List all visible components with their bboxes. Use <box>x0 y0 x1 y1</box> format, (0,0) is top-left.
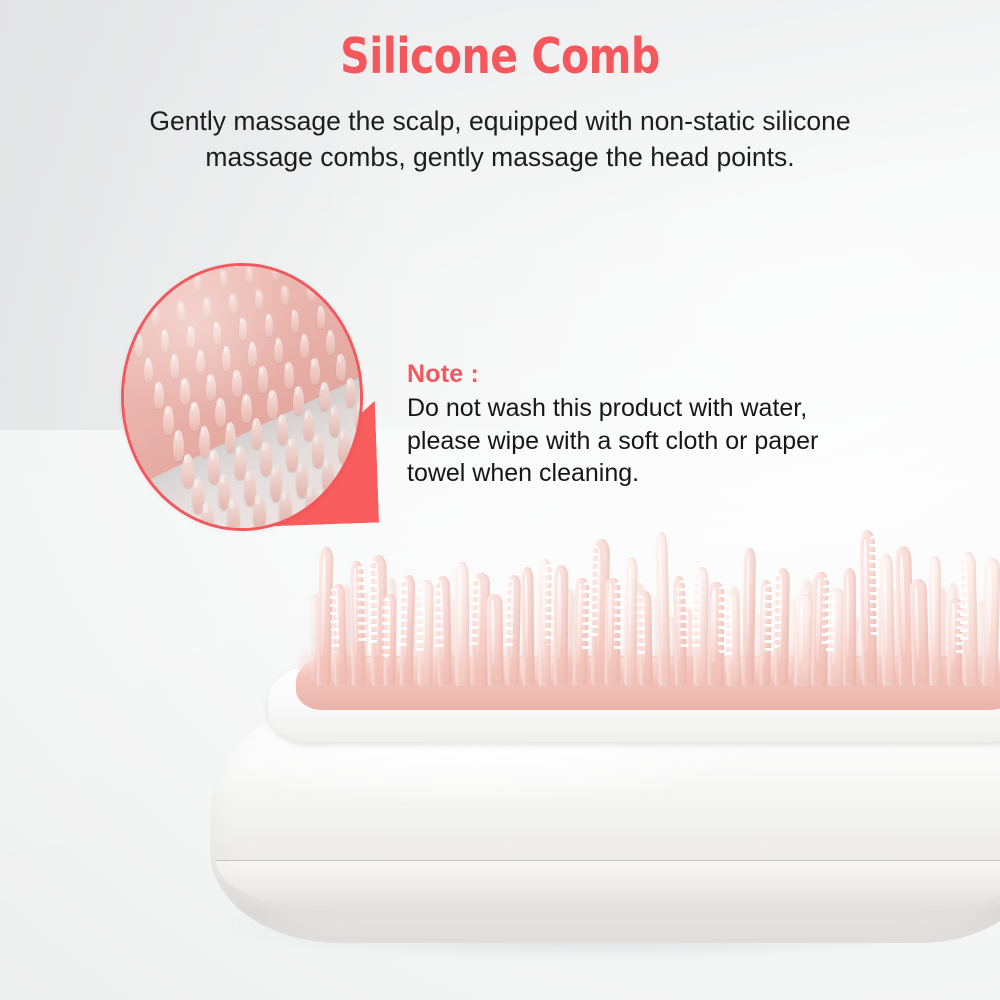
brush-bristle <box>506 575 521 687</box>
macro-bristle <box>203 298 211 318</box>
brush-bristle <box>960 552 978 686</box>
bristle-sheen <box>374 563 379 657</box>
macro-bristle <box>284 362 294 389</box>
brush-bristle <box>521 567 534 686</box>
macro-bristle <box>187 326 196 349</box>
brush-bristle <box>909 579 929 687</box>
bristle-ribbed-edge <box>679 581 689 651</box>
bristle-sheen <box>490 599 495 665</box>
bristle-sheen <box>313 600 316 662</box>
brush-bristle <box>624 557 637 686</box>
bristle-sheen <box>711 588 716 663</box>
bristle-ribbed-edge <box>545 564 554 645</box>
bristle-sheen <box>627 565 631 658</box>
bristle-sheen <box>510 581 515 661</box>
brush-bristle <box>655 532 670 686</box>
macro-bristle <box>310 358 320 385</box>
bristle-sheen <box>641 597 645 665</box>
macro-bristle <box>336 354 346 381</box>
macro-bristle <box>255 290 263 310</box>
macro-bristle <box>272 266 280 280</box>
brush-bristle <box>487 594 505 686</box>
bristle-sheen <box>913 585 919 662</box>
brush-bristle <box>553 565 568 686</box>
bristle-sheen <box>697 574 701 660</box>
brush-bristle <box>982 558 1000 686</box>
brush-bristle <box>384 594 397 686</box>
macro-bristle <box>225 422 236 453</box>
macro-bristle <box>251 418 262 449</box>
macro-bristle <box>168 278 176 296</box>
brush-bristle <box>604 578 619 686</box>
macro-bristle <box>307 282 315 302</box>
bristle-sheen <box>789 605 792 662</box>
macro-bristle <box>189 402 200 431</box>
macro-bristle <box>277 414 288 445</box>
macro-bristle <box>206 374 216 401</box>
page-title: Silicone Comb <box>35 31 965 83</box>
macro-bristle <box>241 394 252 423</box>
subtitle-text: Gently massage the scalp, equipped with … <box>95 103 905 175</box>
bristle-ribbed-edge <box>868 536 877 636</box>
macro-bristle <box>208 450 220 484</box>
bristle-sheen <box>931 564 934 658</box>
brush-bristle <box>693 567 708 686</box>
macro-bristle <box>199 426 210 457</box>
note-block: Note : Do not wash this product with wat… <box>407 358 907 490</box>
bristle-sheen <box>608 584 612 662</box>
macro-bristle <box>286 438 298 472</box>
macro-bristle <box>173 430 184 461</box>
bristle-sheen <box>320 555 326 655</box>
bristle-sheen <box>899 555 906 656</box>
macro-bristle <box>333 278 341 298</box>
note-body-text: Do not wash this product with water, ple… <box>407 392 877 490</box>
bristle-ribbed-edge <box>357 566 366 646</box>
brush-bristle <box>418 580 434 686</box>
macro-bristle <box>125 310 133 330</box>
macro-bristle <box>319 382 330 411</box>
brush-body-seam-line <box>216 860 1000 907</box>
bristle-sheen <box>524 574 528 660</box>
bristle-sheen <box>882 562 888 657</box>
brush-bristle <box>742 547 756 686</box>
brush-bristle <box>774 568 790 686</box>
bristle-sheen <box>439 582 444 661</box>
macro-bristle <box>338 430 350 464</box>
bristle-sheen <box>728 598 733 666</box>
macro-bristle <box>267 390 278 419</box>
brush-bristle <box>759 579 771 686</box>
bristle-sheen <box>846 575 850 660</box>
bristle-sheen <box>832 594 836 665</box>
bristle-sheen <box>745 556 749 656</box>
product-marketing-image: Silicone Comb Gently massage the scalp, … <box>0 0 1000 1000</box>
macro-bristle <box>229 294 237 314</box>
bristle-sheen <box>815 579 821 661</box>
bristle-sheen <box>556 572 560 659</box>
brush-bristle <box>879 554 895 686</box>
macro-bristle <box>163 406 174 435</box>
bristle-sheen <box>986 566 992 658</box>
product-photo <box>0 480 1000 1000</box>
bristle-sheen <box>799 599 805 665</box>
brush-bristle <box>673 576 687 686</box>
macro-bristle <box>135 334 144 357</box>
macro-bristle <box>246 266 254 284</box>
macro-bristle <box>345 378 356 407</box>
bristle-sheen <box>762 586 766 663</box>
bristle-sheen <box>576 584 582 662</box>
brush-bristle <box>436 576 453 686</box>
brush-bristle <box>332 584 347 686</box>
brush-bristle <box>707 582 723 686</box>
brush-bristle <box>860 529 877 686</box>
macro-bristle <box>180 378 190 405</box>
macro-bristle <box>329 406 340 437</box>
macro-bristle <box>343 302 352 325</box>
macro-bristle <box>293 386 304 415</box>
macro-bristle <box>177 302 185 322</box>
macro-bristle <box>239 318 248 341</box>
bristle-sheen <box>387 599 391 665</box>
brush-bristle <box>350 561 365 686</box>
brush-bristle <box>539 559 552 686</box>
macro-bristle <box>151 306 159 326</box>
macro-bristle <box>161 330 170 353</box>
macro-bristle <box>258 366 268 393</box>
brush-bristle <box>828 588 844 686</box>
brush-bristle <box>572 578 588 686</box>
brush-bristle <box>454 562 469 686</box>
macro-bristle <box>232 370 242 397</box>
macro-bristle <box>213 322 222 345</box>
brush-bristle <box>638 591 652 686</box>
macro-bristle <box>215 398 226 427</box>
macro-bristle <box>234 446 246 480</box>
bristle-sheen <box>658 541 664 652</box>
macro-bristle <box>142 282 150 300</box>
macro-bristle <box>317 306 326 329</box>
macro-bristle <box>194 274 202 292</box>
brush-bristle-field <box>0 480 1000 690</box>
note-label: Note : <box>407 358 907 390</box>
brush-bristle <box>843 568 856 686</box>
macro-bristle <box>260 442 272 476</box>
bristle-sheen <box>777 575 782 660</box>
macro-bristle <box>291 310 300 333</box>
macro-bristle <box>303 410 314 441</box>
macro-bristle <box>312 434 324 468</box>
brush-bristle <box>725 592 740 686</box>
macro-bristle <box>265 314 274 337</box>
macro-bristle <box>220 270 228 288</box>
macro-bristle <box>154 382 164 409</box>
bristle-sheen <box>951 603 955 666</box>
bristle-sheen <box>421 586 426 662</box>
brush-bristle <box>929 556 941 686</box>
macro-bristle <box>281 286 289 306</box>
bristle-sheen <box>863 539 868 652</box>
macro-bristle <box>352 326 360 351</box>
bristle-ribbed-edge <box>613 582 622 651</box>
macro-bristle <box>359 274 360 294</box>
bristle-sheen <box>457 569 461 658</box>
